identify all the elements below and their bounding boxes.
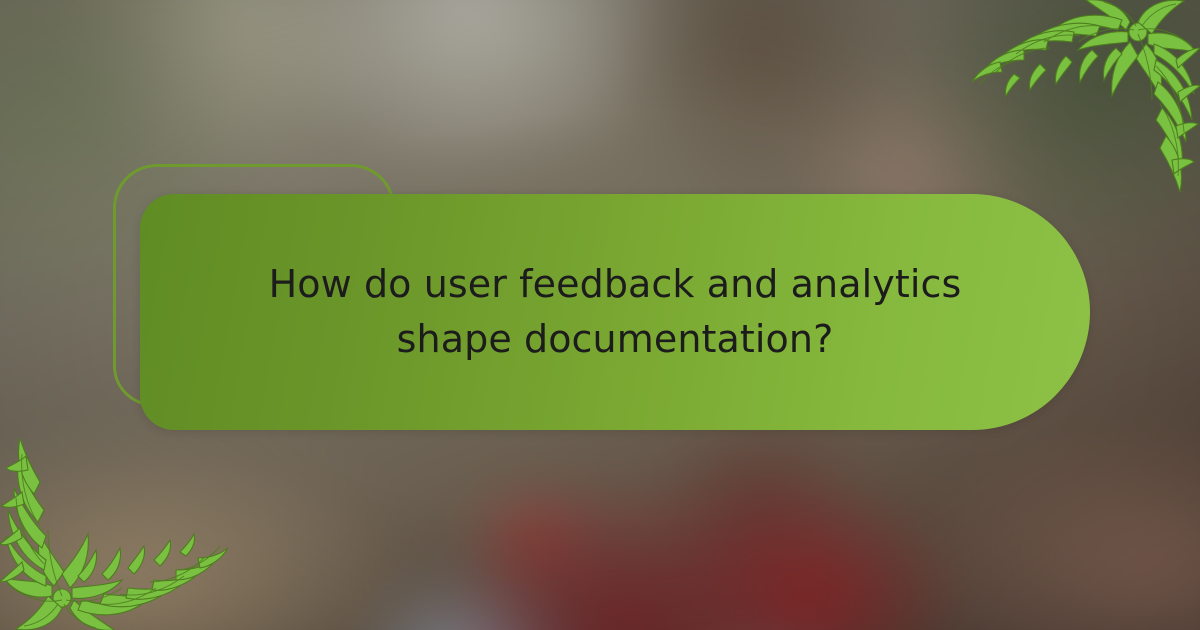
- quote-card-canvas: How do user feedback and analytics shape…: [0, 0, 1200, 630]
- question-card: How do user feedback and analytics shape…: [140, 194, 1090, 430]
- page-title: How do user feedback and analytics shape…: [245, 257, 985, 367]
